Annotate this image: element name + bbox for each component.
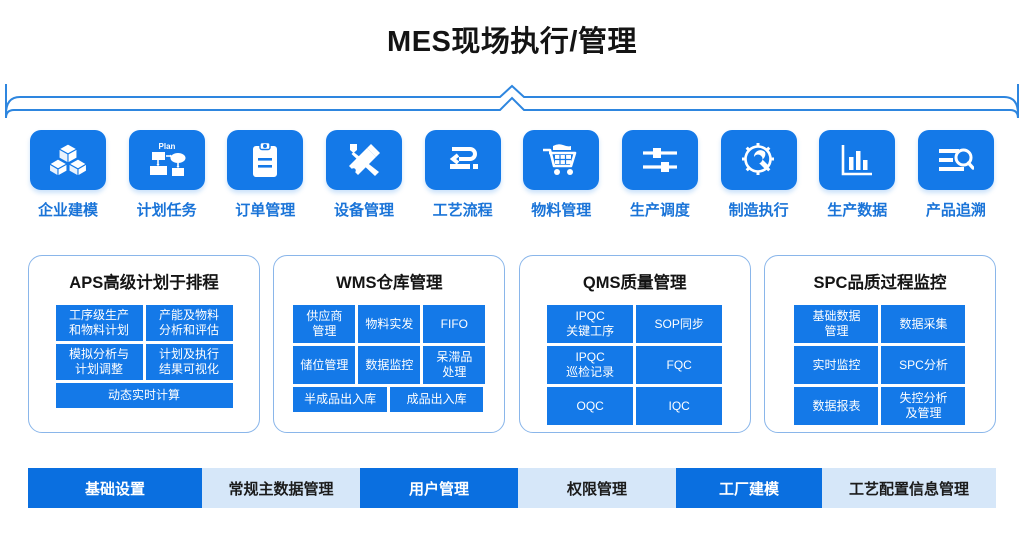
gear-wrench-icon [741, 142, 777, 178]
bar-segment-changguizhushuju[interactable]: 常规主数据管理 [202, 468, 360, 508]
icon-cell-chanpinzhuisu[interactable]: 产品追溯 [912, 130, 1000, 222]
panel-cell[interactable]: 数据采集 [881, 305, 965, 343]
panel-cell[interactable]: IPQC巡检记录 [547, 346, 633, 384]
clipboard-icon [251, 142, 279, 178]
shopping-cart-icon-tile[interactable] [523, 130, 599, 190]
cubes-icon [49, 143, 87, 177]
process-flow-icon [446, 143, 480, 177]
wrench-screwdriver-icon-tile[interactable] [326, 130, 402, 190]
icon-label: 工艺流程 [433, 199, 493, 220]
panel-cell[interactable]: 物料实发 [358, 305, 420, 343]
icon-label: 企业建模 [38, 199, 98, 220]
process-flow-icon-tile[interactable] [425, 130, 501, 190]
panel-cell[interactable]: SPC分析 [881, 346, 965, 384]
module-icon-row: 企业建模 Plan 计划任务 [24, 130, 1000, 222]
bar-segment-yonghuguanli[interactable]: 用户管理 [360, 468, 518, 508]
panel-cell[interactable]: IPQC关键工序 [547, 305, 633, 343]
panel-cell[interactable]: SOP同步 [636, 305, 722, 343]
panel-cell[interactable]: IQC [636, 387, 722, 425]
icon-cell-gongyiliucheng[interactable]: 工艺流程 [419, 130, 507, 222]
icon-label: 生产数据 [827, 199, 887, 220]
icon-cell-qiyejianmo[interactable]: 企业建模 [24, 130, 112, 222]
icon-cell-wuliaoguanli[interactable]: 物料管理 [517, 130, 605, 222]
sliders-icon [642, 145, 678, 175]
bar-segment-gongyipeizhi[interactable]: 工艺配置信息管理 [822, 468, 996, 508]
icon-label: 物料管理 [531, 199, 591, 220]
icon-cell-jihuarenwu[interactable]: Plan 计划任务 [123, 130, 211, 222]
cubes-icon-tile[interactable] [30, 130, 106, 190]
panel-cell[interactable]: 失控分析及管理 [881, 387, 965, 425]
gear-wrench-icon-tile[interactable] [721, 130, 797, 190]
infographic-root: MES现场执行/管理 [0, 0, 1024, 534]
panel-wms: WMS仓库管理 供应商管理 物料实发 FIFO 储位管理 数据监控 呆滞品处理 … [273, 255, 505, 433]
bar-segment-quanxianguanli[interactable]: 权限管理 [518, 468, 676, 508]
bar-chart-icon-tile[interactable] [819, 130, 895, 190]
clipboard-icon-tile[interactable] [227, 130, 303, 190]
icon-label: 设备管理 [334, 199, 394, 220]
panel-cell[interactable]: 模拟分析与计划调整 [56, 344, 143, 380]
panel-row: 数据报表 失控分析及管理 [794, 387, 965, 425]
icon-cell-zhizaozhixing[interactable]: 制造执行 [715, 130, 803, 222]
panel-row: OQC IQC [547, 387, 722, 425]
panel-row: 储位管理 数据监控 呆滞品处理 [293, 346, 485, 384]
panel-cell[interactable]: 供应商管理 [293, 305, 355, 343]
icon-cell-shengchandiaodu[interactable]: 生产调度 [616, 130, 704, 222]
page-title: MES现场执行/管理 [0, 18, 1024, 60]
bracket-connector [0, 84, 1024, 120]
panel-title: APS高级计划于排程 [69, 269, 218, 293]
bar-segment-jichushezhi[interactable]: 基础设置 [28, 468, 202, 508]
shopping-cart-icon [543, 143, 579, 177]
panel-title: SPC品质过程监控 [814, 269, 947, 293]
panel-cell[interactable]: 基础数据管理 [794, 305, 878, 343]
panel-row: 供应商管理 物料实发 FIFO [293, 305, 485, 343]
document-search-icon [938, 145, 974, 175]
panel-row: 动态实时计算 [56, 383, 233, 408]
panel-qms: QMS质量管理 IPQC关键工序 SOP同步 IPQC巡检记录 FQC OQC … [519, 255, 751, 433]
panel-grid: IPQC关键工序 SOP同步 IPQC巡检记录 FQC OQC IQC [547, 305, 722, 425]
panel-cell[interactable]: FQC [636, 346, 722, 384]
panel-cell[interactable]: 工序级生产和物料计划 [56, 305, 143, 341]
panel-row: 工序级生产和物料计划 产能及物料分析和评估 [56, 305, 233, 341]
svg-text:Plan: Plan [158, 142, 175, 151]
icon-cell-dingdanguanli[interactable]: 订单管理 [221, 130, 309, 222]
panel-cell[interactable]: 呆滞品处理 [423, 346, 485, 384]
icon-label: 生产调度 [630, 199, 690, 220]
panel-title: WMS仓库管理 [336, 269, 442, 293]
panel-cell[interactable]: FIFO [423, 305, 485, 343]
panel-cell[interactable]: 计划及执行结果可视化 [146, 344, 233, 380]
module-panels: APS高级计划于排程 工序级生产和物料计划 产能及物料分析和评估 模拟分析与计划… [28, 255, 996, 433]
icon-label: 制造执行 [729, 199, 789, 220]
panel-cell[interactable]: 产能及物料分析和评估 [146, 305, 233, 341]
icon-label: 计划任务 [137, 199, 197, 220]
panel-grid: 供应商管理 物料实发 FIFO 储位管理 数据监控 呆滞品处理 半成品出入库 成… [293, 305, 485, 412]
icon-cell-shengchanshuju[interactable]: 生产数据 [813, 130, 901, 222]
icon-cell-shebeiguanli[interactable]: 设备管理 [320, 130, 408, 222]
panel-row: 实时监控 SPC分析 [794, 346, 965, 384]
panel-cell[interactable]: 成品出入库 [390, 387, 484, 412]
icon-label: 产品追溯 [926, 199, 986, 220]
panel-cell[interactable]: 半成品出入库 [293, 387, 387, 412]
bracket-icon [0, 84, 1024, 120]
panel-cell[interactable]: 动态实时计算 [56, 383, 233, 408]
document-search-icon-tile[interactable] [918, 130, 994, 190]
wrench-screwdriver-icon [346, 142, 382, 178]
panel-grid: 基础数据管理 数据采集 实时监控 SPC分析 数据报表 失控分析及管理 [794, 305, 965, 425]
panel-grid: 工序级生产和物料计划 产能及物料分析和评估 模拟分析与计划调整 计划及执行结果可… [56, 305, 233, 408]
panel-spc: SPC品质过程监控 基础数据管理 数据采集 实时监控 SPC分析 数据报表 失控… [764, 255, 996, 433]
panel-cell[interactable]: OQC [547, 387, 633, 425]
panel-cell[interactable]: 数据监控 [358, 346, 420, 384]
foundation-bar: 基础设置 常规主数据管理 用户管理 权限管理 工厂建模 工艺配置信息管理 [28, 468, 996, 508]
plan-flowchart-icon: Plan [147, 141, 187, 179]
panel-title: QMS质量管理 [583, 269, 687, 293]
panel-cell[interactable]: 实时监控 [794, 346, 878, 384]
panel-row: 基础数据管理 数据采集 [794, 305, 965, 343]
panel-row: 模拟分析与计划调整 计划及执行结果可视化 [56, 344, 233, 380]
bar-chart-icon [841, 144, 873, 176]
bar-segment-gongchangjianmo[interactable]: 工厂建模 [676, 468, 822, 508]
plan-flowchart-icon-tile[interactable]: Plan [129, 130, 205, 190]
panel-row: 半成品出入库 成品出入库 [293, 387, 485, 412]
panel-cell[interactable]: 数据报表 [794, 387, 878, 425]
sliders-icon-tile[interactable] [622, 130, 698, 190]
panel-cell[interactable]: 储位管理 [293, 346, 355, 384]
panel-row: IPQC关键工序 SOP同步 [547, 305, 722, 343]
panel-row: IPQC巡检记录 FQC [547, 346, 722, 384]
icon-label: 订单管理 [235, 199, 295, 220]
panel-aps: APS高级计划于排程 工序级生产和物料计划 产能及物料分析和评估 模拟分析与计划… [28, 255, 260, 433]
